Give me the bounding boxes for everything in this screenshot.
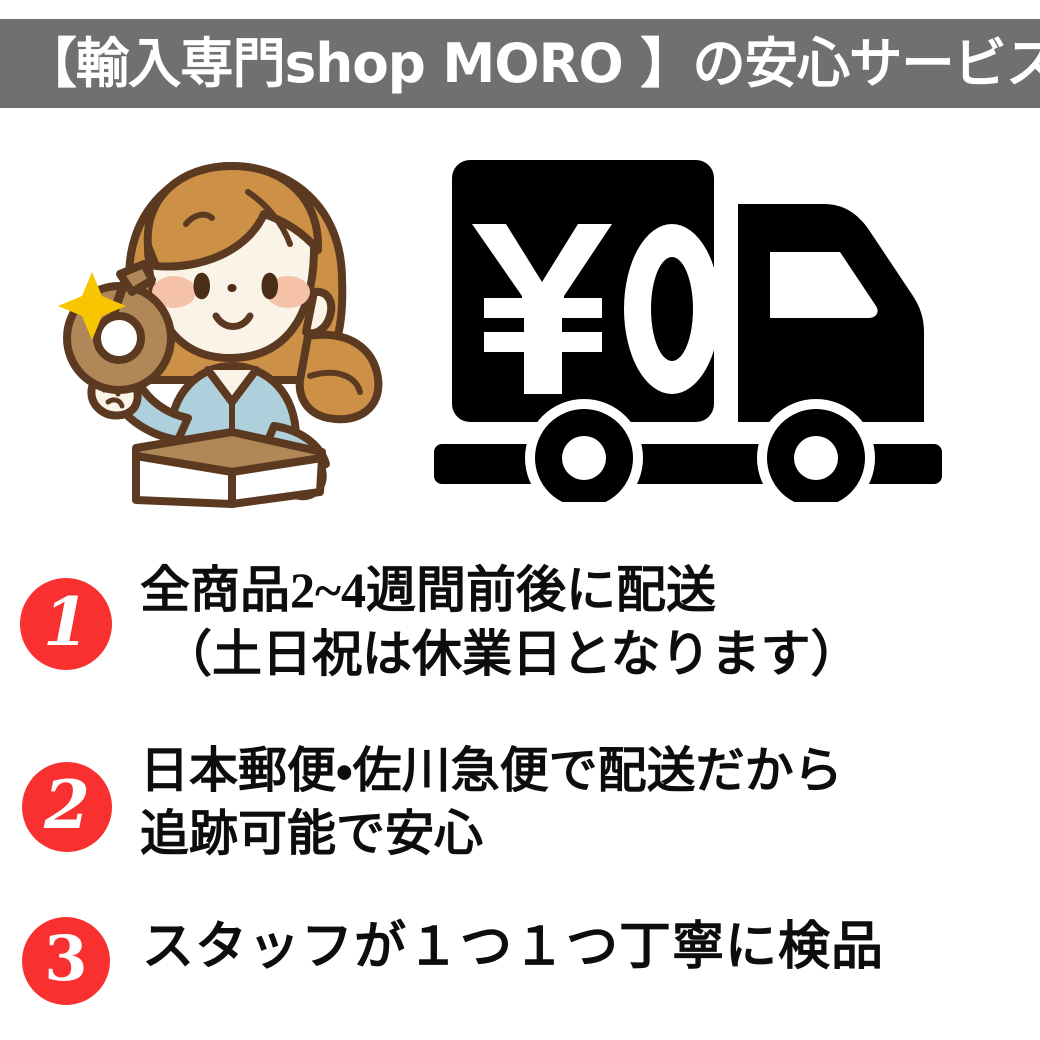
list-item-2-line-2: 追跡可能で安心: [140, 803, 843, 866]
list-item-1-line-1: 全商品2~4週間前後に配送: [140, 558, 861, 622]
list-item-2-text: 日本郵便・佐川急便で配送だから 追跡可能で安心: [140, 740, 843, 865]
list-item-1-line-2: （土日祝は休業日となります）: [140, 622, 861, 686]
illustration-row: [0, 118, 1040, 528]
header-banner: 【輸入専門shop MORO 】の安心サービス: [0, 19, 1040, 108]
list-number-badge-3: 3: [22, 917, 110, 1005]
delivery-truck-icon: [424, 146, 984, 502]
list-item-1-text: 全商品2~4週間前後に配送 （土日祝は休業日となります）: [140, 558, 861, 686]
list-item-3-text: スタッフが１つ１つ丁寧に検品: [142, 915, 884, 982]
page-title: 【輸入専門shop MORO 】の安心サービス: [0, 37, 1040, 91]
list-number-badge-1: 1: [20, 578, 112, 670]
service-banner-page: 【輸入専門shop MORO 】の安心サービス: [0, 0, 1040, 1040]
list-number-badge-2: 2: [22, 762, 112, 852]
woman-inspecting-box-icon: [52, 140, 402, 508]
list-item-2-line-1: 日本郵便・佐川急便で配送だから: [140, 740, 843, 803]
list-item-3-line-1: スタッフが１つ１つ丁寧に検品: [142, 915, 884, 982]
